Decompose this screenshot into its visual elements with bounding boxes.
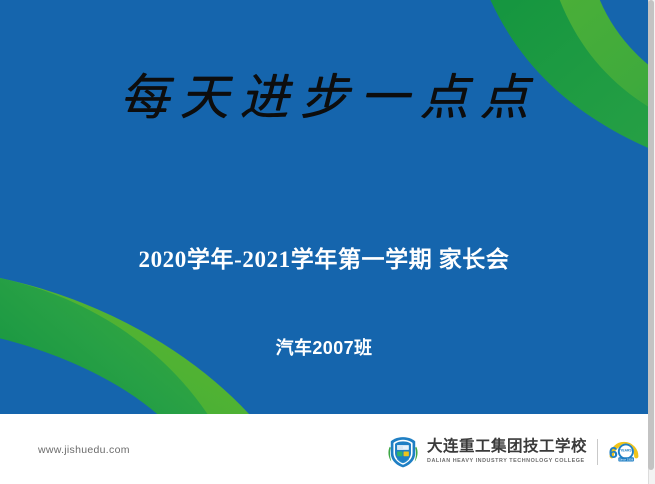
logo-divider — [597, 439, 598, 465]
school-name-en: DALIAN HEAVY INDUSTRY TECHNOLOGY COLLEGE — [427, 457, 587, 465]
school-name-cn: 大连重工集团技工学校 — [427, 439, 587, 455]
slide-class-label: 汽车2007班 — [0, 334, 648, 360]
vertical-scrollbar-track[interactable] — [648, 0, 655, 484]
slide-canvas: 每天进步一点点 2020学年-2021学年第一学期 家长会 汽车2007班 — [0, 0, 648, 414]
vertical-scrollbar-thumb[interactable] — [648, 0, 654, 470]
slide-main-title: 每天进步一点点 — [0, 70, 648, 126]
footer-website-url[interactable]: www.jishuedu.com — [38, 444, 130, 456]
svg-text:6: 6 — [609, 444, 618, 462]
school-wordmark: 大连重工集团技工学校 DALIAN HEAVY INDUSTRY TECHNOL… — [427, 439, 587, 464]
svg-text:YEARS: YEARS — [620, 449, 632, 453]
anniversary-60-years-badge: 6 YEARS Since 1958 — [607, 437, 641, 467]
svg-text:Since 1958: Since 1958 — [619, 458, 634, 462]
slide-subtitle: 2020学年-2021学年第一学期 家长会 — [0, 240, 648, 274]
shield-crest-icon — [386, 435, 420, 469]
presentation-viewport: 每天进步一点点 2020学年-2021学年第一学期 家长会 汽车2007班 ww… — [0, 0, 655, 484]
school-logo-lockup: 大连重工集团技工学校 DALIAN HEAVY INDUSTRY TECHNOL… — [386, 434, 641, 470]
